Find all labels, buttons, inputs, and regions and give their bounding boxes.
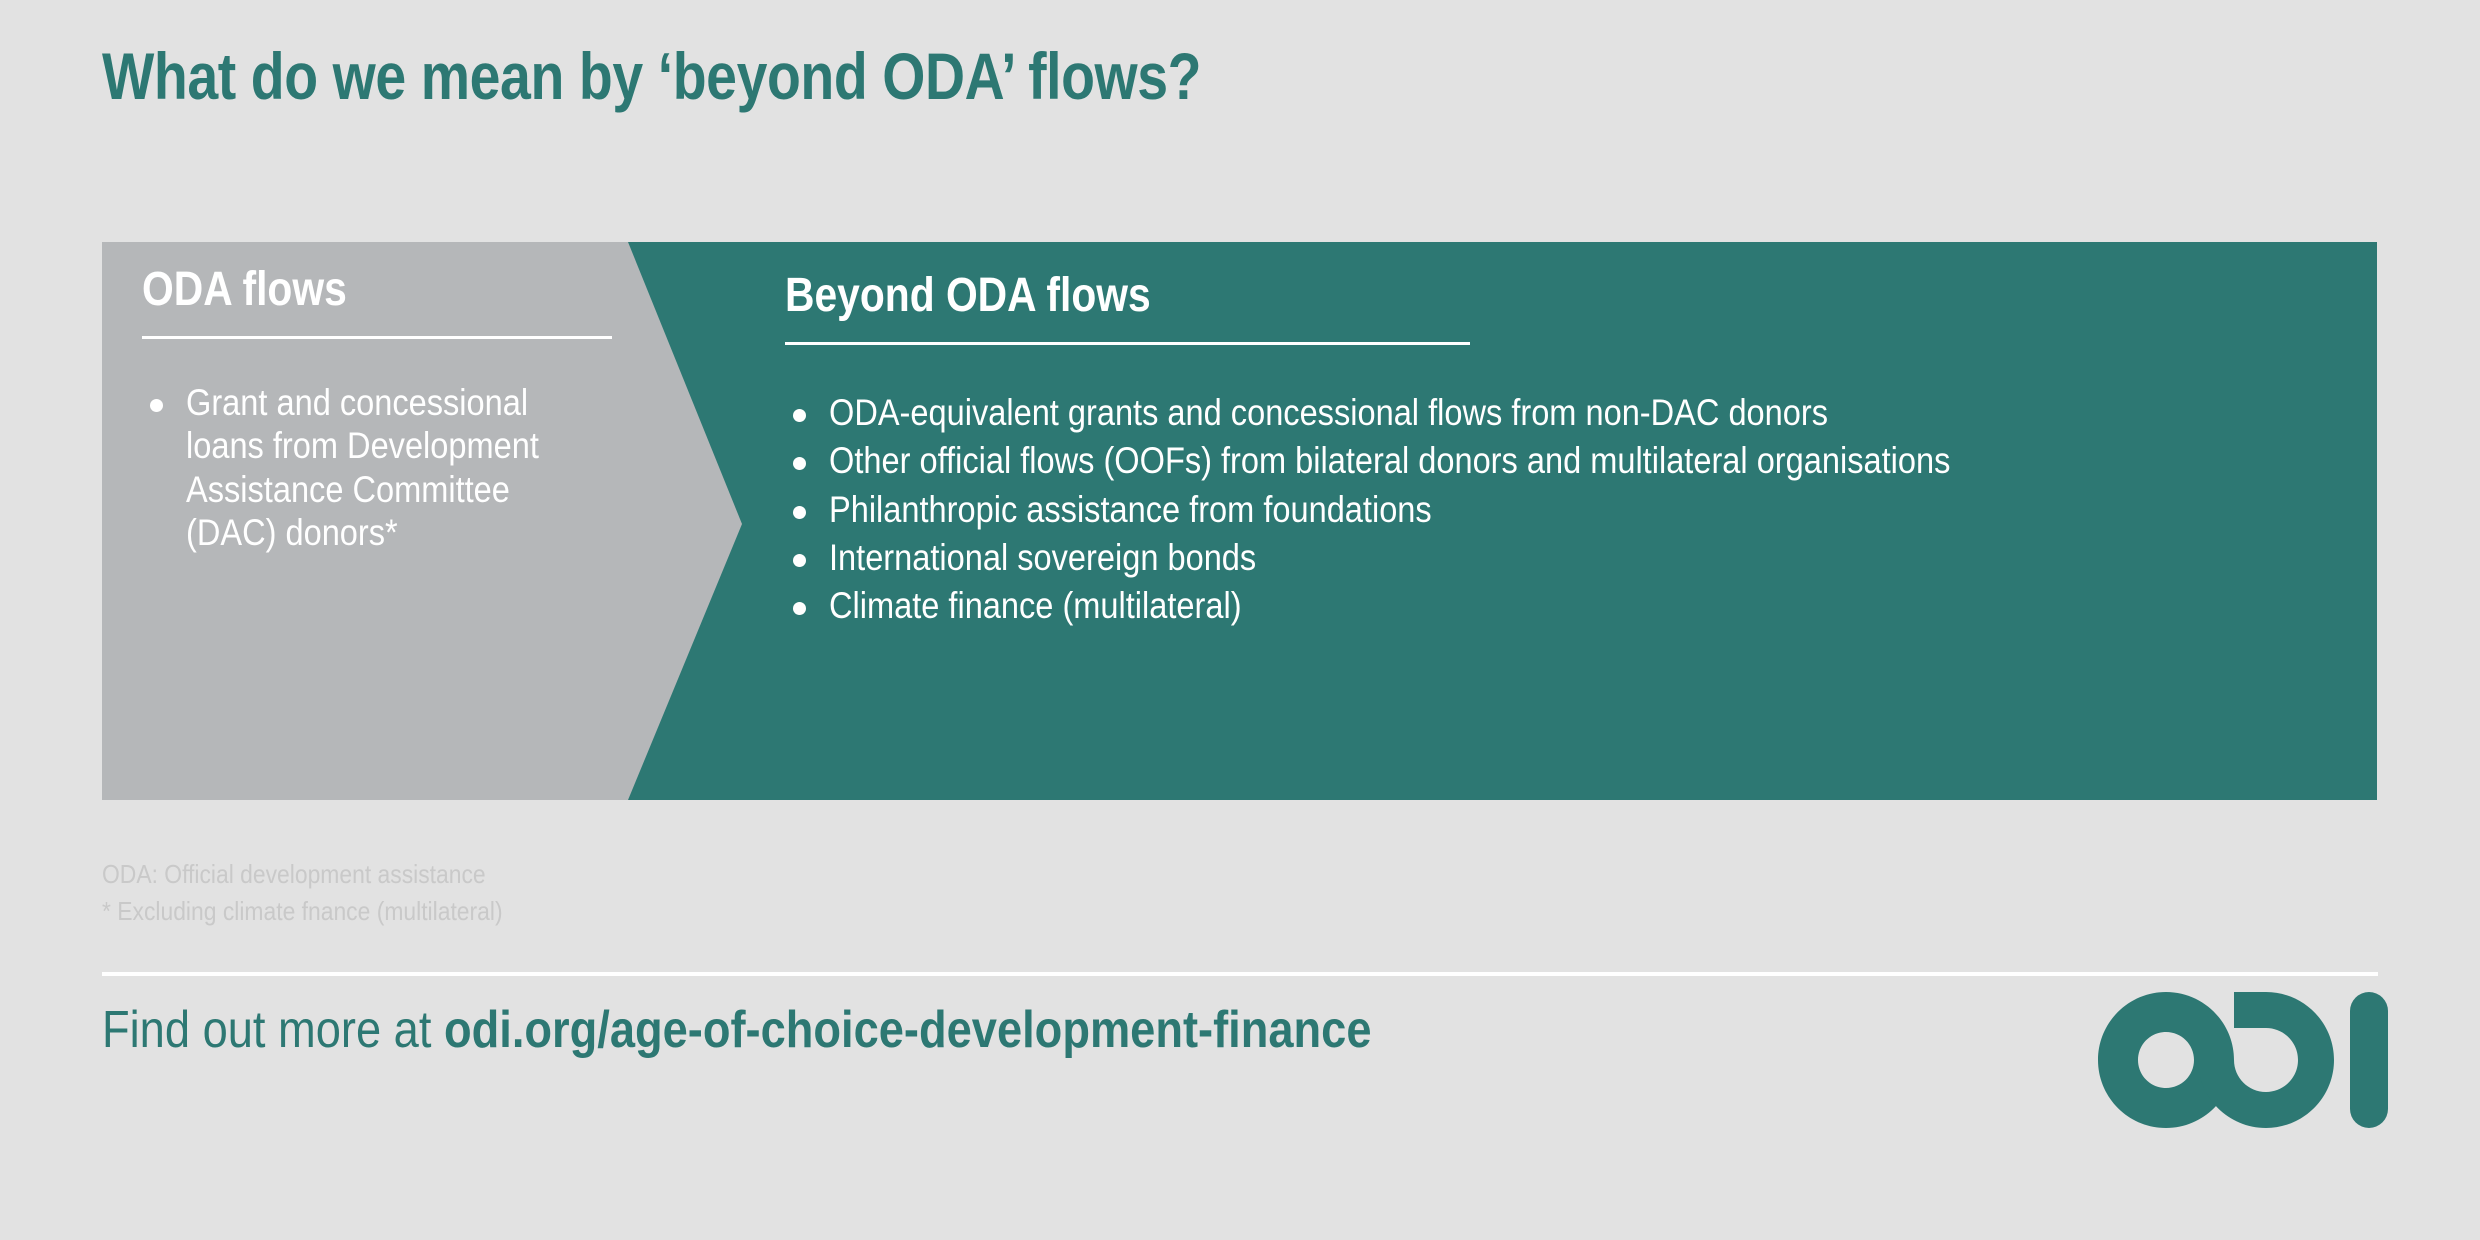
cta-prefix-text: Find out more at — [102, 1001, 444, 1059]
beyond-oda-bullet-text: ODA-equivalent grants and concessional f… — [829, 391, 1828, 434]
list-item: Philanthropic assistance from foundation… — [785, 488, 2345, 531]
footnote-asterisk: * Excluding climate fnance (multilateral… — [102, 893, 503, 930]
list-item: Other official flows (OOFs) from bilater… — [785, 439, 2345, 482]
find-out-more-cta: Find out more at odi.org/age-of-choice-d… — [102, 1000, 1371, 1060]
oda-flows-column: ODA flows Grant and concessional loans f… — [142, 242, 612, 554]
list-item: Grant and concessional loans from Develo… — [142, 381, 612, 554]
oda-bullet-text: Grant and concessional loans from Develo… — [186, 381, 561, 554]
list-item: ODA-equivalent grants and concessional f… — [785, 391, 2345, 434]
beyond-oda-flows-heading: Beyond ODA flows — [785, 242, 2111, 320]
list-item: International sovereign bonds — [785, 536, 2345, 579]
odi-logo — [2098, 992, 2388, 1128]
oda-flows-heading: ODA flows — [142, 242, 542, 314]
beyond-oda-flows-bullet-list: ODA-equivalent grants and concessional f… — [785, 391, 2345, 627]
oda-flows-bullet-list: Grant and concessional loans from Develo… — [142, 381, 612, 554]
flows-comparison-panels: ODA flows Grant and concessional loans f… — [102, 242, 2377, 800]
odi-logo-icon — [2098, 992, 2388, 1128]
cta-url-link[interactable]: odi.org/age-of-choice-development-financ… — [444, 1001, 1372, 1059]
beyond-oda-bullet-text: Philanthropic assistance from foundation… — [829, 488, 1432, 531]
footnote-abbreviation: ODA: Official development assistance — [102, 856, 503, 893]
list-item: Climate finance (multilateral) — [785, 584, 2345, 627]
footnotes: ODA: Official development assistance * E… — [102, 856, 557, 930]
beyond-oda-bullet-text: Climate finance (multilateral) — [829, 584, 1242, 627]
beyond-oda-heading-rule — [785, 342, 1470, 345]
beyond-oda-flows-column: Beyond ODA flows ODA-equivalent grants a… — [785, 242, 2345, 632]
oda-heading-rule — [142, 336, 612, 339]
page-title: What do we mean by ‘beyond ODA’ flows? — [102, 38, 1201, 114]
beyond-oda-bullet-text: International sovereign bonds — [829, 536, 1256, 579]
beyond-oda-bullet-text: Other official flows (OOFs) from bilater… — [829, 439, 1950, 482]
footer-divider — [102, 972, 2378, 976]
